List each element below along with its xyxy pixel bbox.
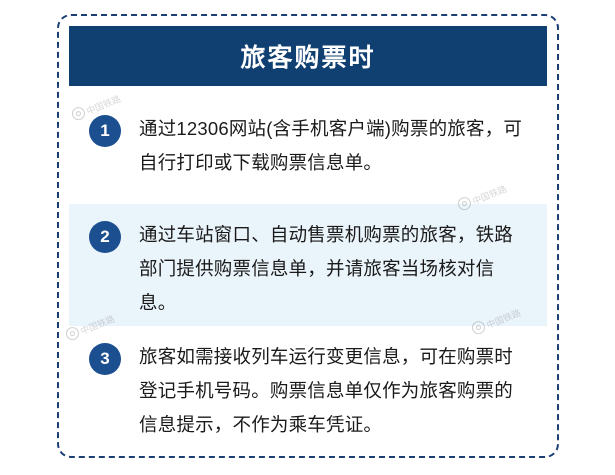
list-item: 3 旅客如需接收列车运行变更信息，可在购票时登记手机号码。购票信息单仅作为旅客购… — [69, 326, 547, 450]
list-item: 1 通过12306网站(含手机客户端)购票的旅客，可自行打印或下载购票信息单。 — [69, 98, 547, 204]
item-text: 旅客如需接收列车运行变更信息，可在购票时登记手机号码。购票信息单仅作为旅客购票的… — [139, 340, 529, 442]
info-card: 旅客购票时 1 通过12306网站(含手机客户端)购票的旅客，可自行打印或下载购… — [57, 14, 559, 458]
item-number-badge: 1 — [89, 115, 121, 147]
card-header: 旅客购票时 — [69, 26, 547, 86]
item-number-badge: 2 — [89, 221, 121, 253]
list-item: 2 通过车站窗口、自动售票机购票的旅客，铁路部门提供购票信息单，并请旅客当场核对… — [69, 204, 547, 326]
item-number-badge: 3 — [89, 343, 121, 375]
page-title: 旅客购票时 — [240, 38, 375, 74]
item-text: 通过12306网站(含手机客户端)购票的旅客，可自行打印或下载购票信息单。 — [139, 112, 529, 180]
item-text: 通过车站窗口、自动售票机购票的旅客，铁路部门提供购票信息单，并请旅客当场核对信息… — [139, 218, 529, 320]
